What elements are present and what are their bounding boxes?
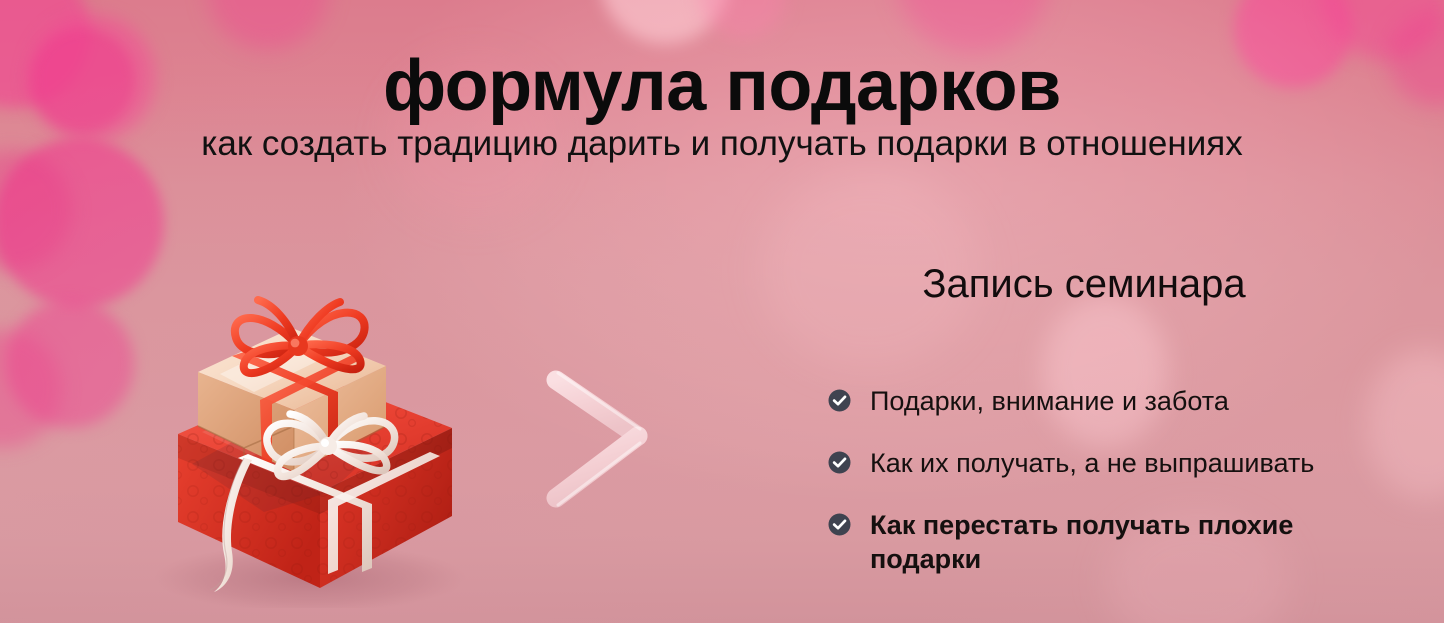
hero-title-block: формула подарков как создать традицию да…: [0, 50, 1444, 163]
chevron-right-decoration: [540, 364, 660, 514]
seminar-heading: Запись семинара: [828, 262, 1340, 306]
feature-bullet-list: Подарки, внимание и забота Как их получа…: [828, 384, 1408, 576]
list-item: Как перестать получать плохие подарки: [828, 508, 1408, 576]
landing-hero-banner: формула подарков как создать традицию да…: [0, 0, 1444, 623]
list-item-label: Подарки, внимание и забота: [870, 384, 1229, 418]
stacked-gift-boxes: [132, 196, 472, 608]
page-title: формула подарков: [0, 50, 1444, 122]
offer-column: Запись семинара Подарки, внимание и забо…: [828, 262, 1408, 592]
check-circle-icon: [828, 451, 851, 474]
page-subtitle: как создать традицию дарить и получать п…: [0, 126, 1444, 163]
list-item-label: Как их получать, а не выпрашивать: [870, 446, 1314, 480]
check-circle-icon: [828, 389, 851, 412]
list-item: Подарки, внимание и забота: [828, 384, 1408, 418]
list-item: Как их получать, а не выпрашивать: [828, 446, 1408, 480]
list-item-label: Как перестать получать плохие подарки: [870, 508, 1368, 576]
check-circle-icon: [828, 513, 851, 536]
